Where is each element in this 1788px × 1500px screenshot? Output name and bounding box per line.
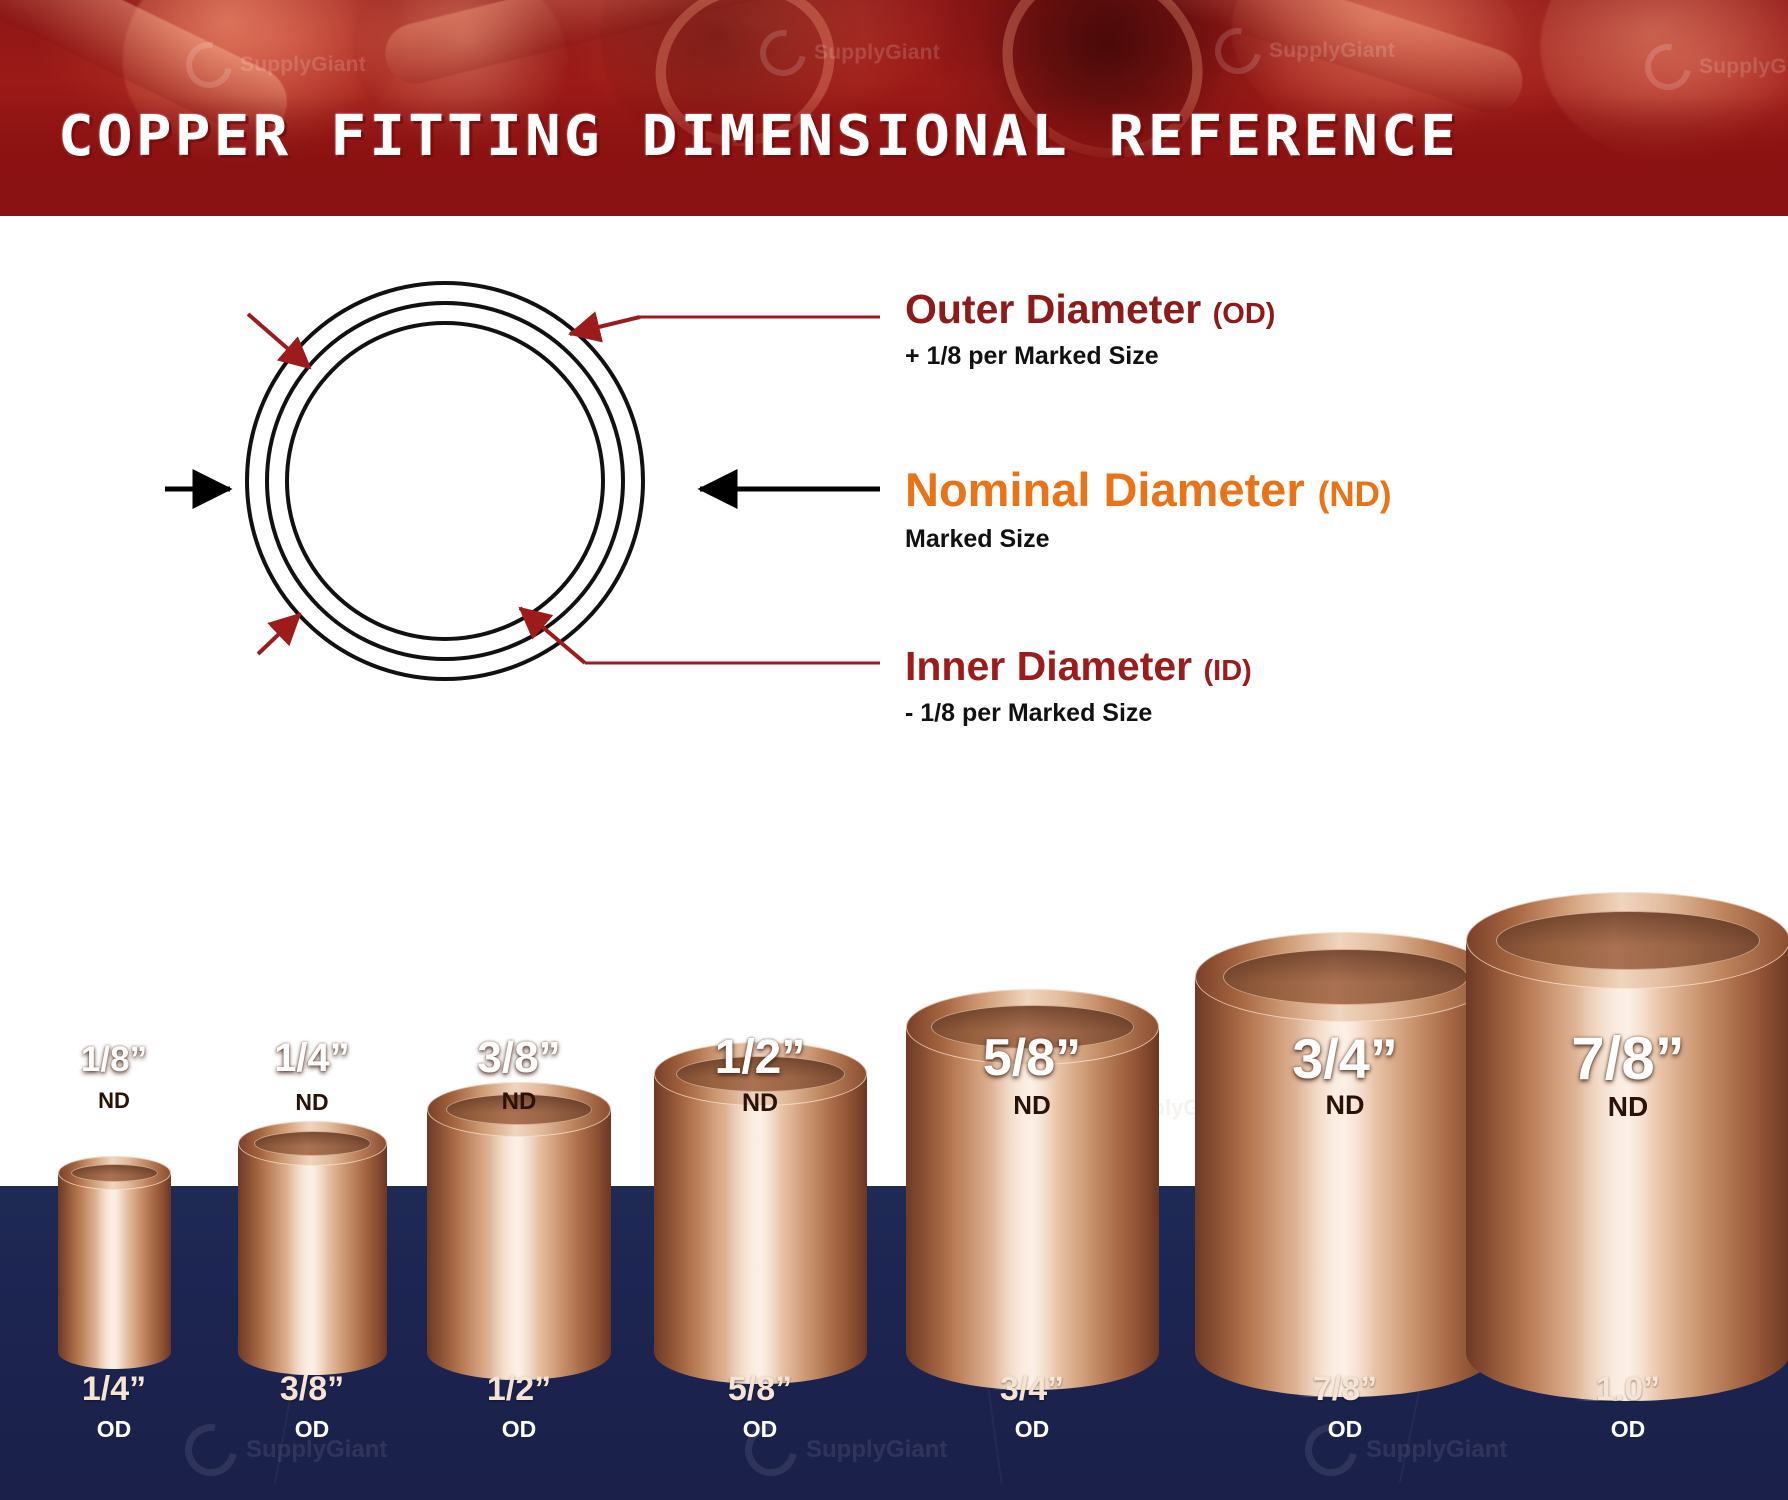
pipe-highlight: [288, 1144, 327, 1375]
pipe-nd-unit: ND: [238, 1089, 387, 1116]
pipe-nd-unit: ND: [58, 1088, 171, 1114]
pipe-highlight: [96, 1173, 125, 1369]
pipe-nd-value: 3/4”: [1195, 1026, 1496, 1091]
pipe-od-unit: OD: [399, 1416, 639, 1443]
pipe-bore-shadow: [255, 1132, 372, 1157]
pipe-nd-value: 7/8”: [1466, 1024, 1788, 1093]
pipe-bore-shadow: [1497, 912, 1761, 971]
pipe-nd-value: 5/8”: [906, 1028, 1159, 1088]
pipe-bore: [1496, 911, 1760, 970]
pipe-highlight: [1576, 941, 1660, 1401]
pipe-od-value: 3/8”: [192, 1370, 432, 1409]
pipe-body: [654, 1074, 867, 1384]
pipe-od-unit: OD: [1508, 1416, 1748, 1443]
pipe-2: [238, 1121, 387, 1375]
pipe-body: [427, 1110, 611, 1380]
pipe-highlight: [490, 1110, 538, 1380]
pipe-body: [1466, 941, 1788, 1401]
pipe-nd-value: 3/8”: [427, 1033, 611, 1083]
pipe-od-value: 7/8”: [1225, 1370, 1465, 1409]
pipe-bore-shadow: [1224, 950, 1469, 1006]
pipe-nd-unit: ND: [654, 1089, 867, 1118]
pipe-body: [238, 1144, 387, 1375]
pipe-nd-value: 1/4”: [238, 1036, 387, 1081]
pipe-od-value: 3/4”: [912, 1370, 1152, 1409]
pipe-od-value: 5/8”: [640, 1370, 880, 1409]
pipe-nd-unit: ND: [1466, 1091, 1788, 1123]
pipe-od-unit: OD: [192, 1416, 432, 1443]
pipe-body: [58, 1173, 171, 1369]
pipe-bore-shadow: [72, 1165, 159, 1183]
pipe-nd-unit: ND: [1195, 1090, 1496, 1121]
pipe-od-unit: OD: [1225, 1416, 1465, 1443]
pipe-nd-value: 1/8”: [58, 1040, 171, 1080]
pipe-od-unit: OD: [912, 1416, 1152, 1443]
pipe-3: [427, 1082, 611, 1380]
pipe-6: [1195, 932, 1496, 1397]
pipe-od-value: 1/2”: [399, 1370, 639, 1409]
pipe-size-comparison: 1/8”ND1/4”OD1/4”ND3/8”OD3/8”ND1/2”OD1/2”…: [0, 0, 1788, 1500]
pipe-nd-unit: ND: [906, 1090, 1159, 1121]
pipe-1: [58, 1156, 171, 1369]
pipe-od-value: 1.0”: [1508, 1370, 1748, 1409]
pipe-7: [1466, 892, 1788, 1401]
pipe-od-unit: OD: [640, 1416, 880, 1443]
pipe-bore: [71, 1164, 158, 1182]
pipe-bore: [1223, 949, 1468, 1005]
pipe-bore: [254, 1131, 371, 1156]
pipe-highlight: [726, 1074, 781, 1384]
pipe-nd-unit: ND: [427, 1088, 611, 1116]
pipe-nd-value: 1/2”: [654, 1030, 867, 1085]
